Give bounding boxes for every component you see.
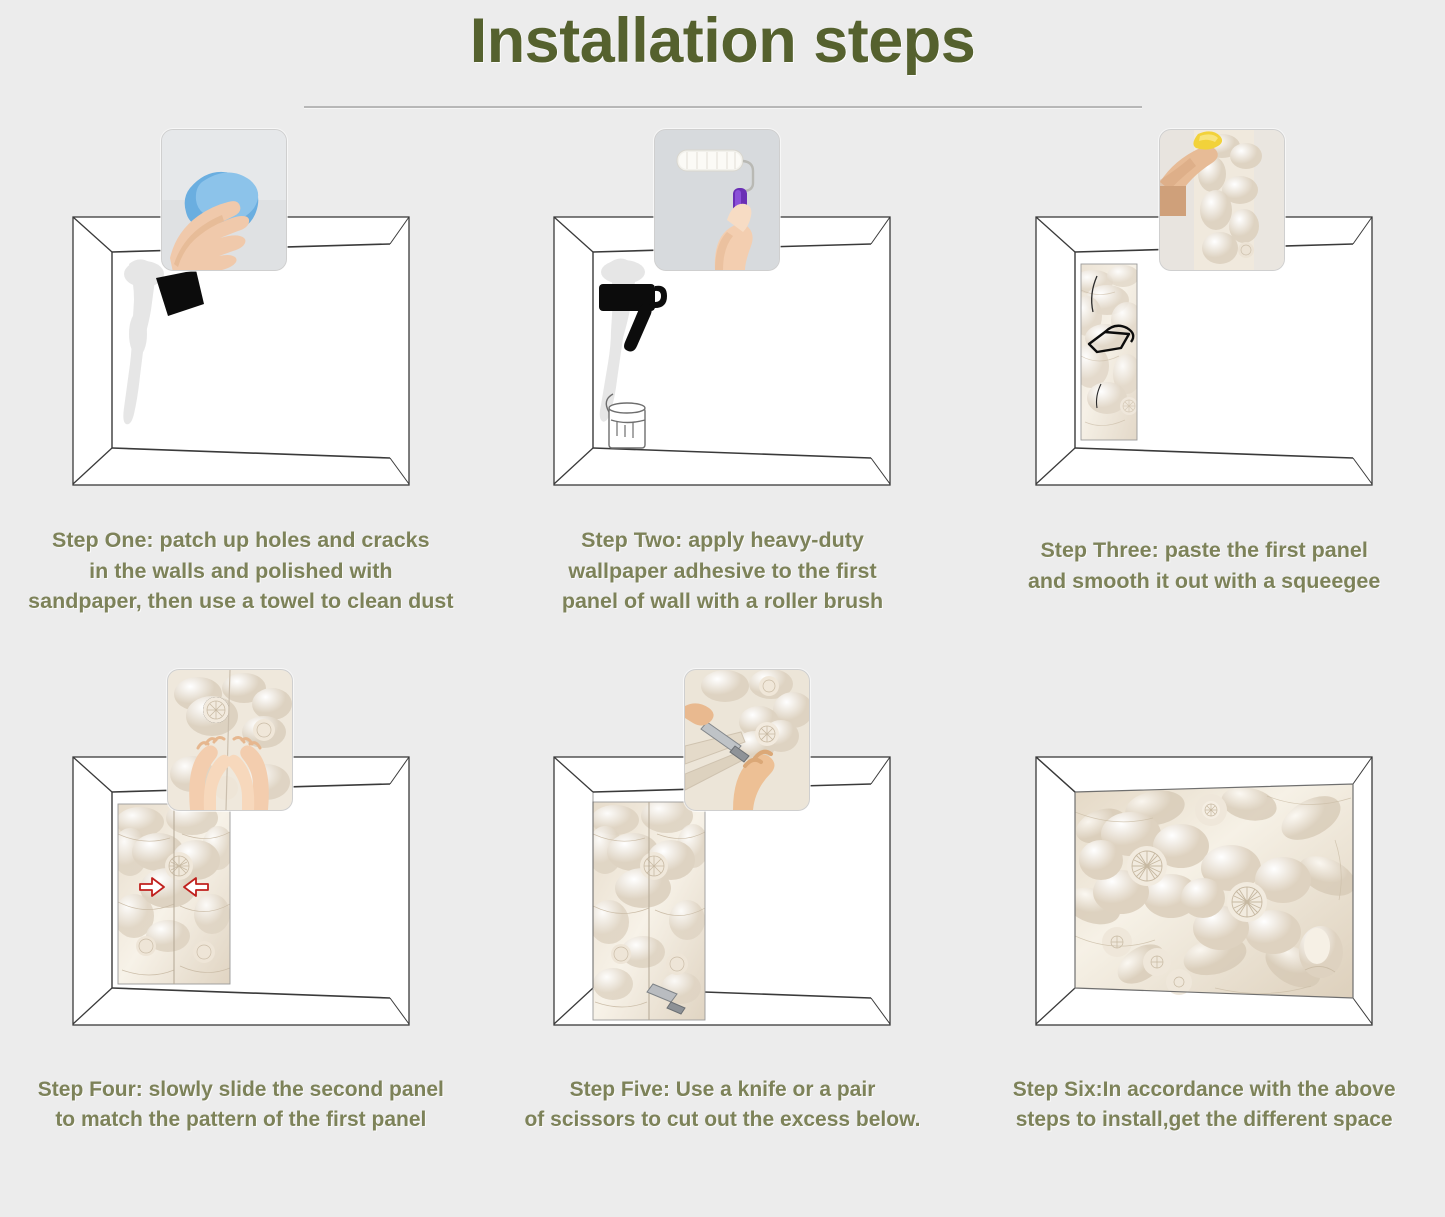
caption-line: Step Two: apply heavy-duty <box>490 525 956 556</box>
step-caption-six: Step Six:In accordance with the above st… <box>963 1075 1445 1135</box>
photo-inset-five <box>684 669 810 811</box>
caption-line: steps to install,get the different space <box>971 1105 1437 1135</box>
caption-line: Step One: patch up holes and cracks <box>8 525 474 556</box>
step-card-five: Step Five: Use a knife or a pair of scis… <box>482 661 964 1201</box>
caption-line: Step Four: slowly slide the second panel <box>8 1075 474 1105</box>
step-figure-four <box>0 661 482 1061</box>
photo-inset-three <box>1159 129 1285 271</box>
step-caption-one: Step One: patch up holes and cracks in t… <box>0 525 482 617</box>
caption-line: and smooth it out with a squeegee <box>971 566 1437 597</box>
page-title: Installation steps <box>0 8 1445 74</box>
wallpaper-panels-overhang <box>587 799 709 1020</box>
step-caption-five: Step Five: Use a knife or a pair of scis… <box>482 1075 964 1135</box>
step-card-six: Step Six:In accordance with the above st… <box>963 661 1445 1201</box>
step-card-three: Step Three: paste the first panel and sm… <box>963 121 1445 661</box>
caption-line: wallpaper adhesive to the first <box>490 556 956 587</box>
caption-line: of scissors to cut out the excess below. <box>490 1105 956 1135</box>
completed-mural-wall <box>1061 783 1361 998</box>
step-card-four: Step Four: slowly slide the second panel… <box>0 661 482 1201</box>
caption-line: in the walls and polished with <box>8 556 474 587</box>
room-diagram-six <box>1035 756 1373 1026</box>
step-figure-two <box>482 121 964 521</box>
caption-line: Step Five: Use a knife or a pair <box>490 1075 956 1105</box>
wallpaper-panel-first <box>1072 264 1143 440</box>
photo-inset-four <box>167 669 293 811</box>
caption-line: Step Three: paste the first panel <box>971 535 1437 566</box>
step-card-one: Step One: patch up holes and cracks in t… <box>0 121 482 661</box>
step-card-two: Step Two: apply heavy-duty wallpaper adh… <box>482 121 964 661</box>
step-figure-one <box>0 121 482 521</box>
step-caption-three: Step Three: paste the first panel and sm… <box>963 535 1445 596</box>
caption-line: panel of wall with a roller brush <box>490 586 956 617</box>
step-figure-six <box>963 661 1445 1061</box>
caption-line: to match the pattern of the first panel <box>8 1105 474 1135</box>
wallpaper-panels-pair <box>112 801 234 984</box>
photo-inset-one <box>161 129 287 271</box>
caption-line: sandpaper, then use a towel to clean dus… <box>8 586 474 617</box>
caption-line: Step Six:In accordance with the above <box>971 1075 1437 1105</box>
step-figure-three <box>963 121 1445 521</box>
step-caption-four: Step Four: slowly slide the second panel… <box>0 1075 482 1135</box>
steps-grid: Step One: patch up holes and cracks in t… <box>0 121 1445 1201</box>
title-divider <box>304 106 1142 109</box>
step-figure-five <box>482 661 964 1061</box>
step-caption-two: Step Two: apply heavy-duty wallpaper adh… <box>482 525 964 617</box>
photo-inset-two <box>654 129 780 271</box>
title-block: Installation steps <box>0 0 1445 109</box>
